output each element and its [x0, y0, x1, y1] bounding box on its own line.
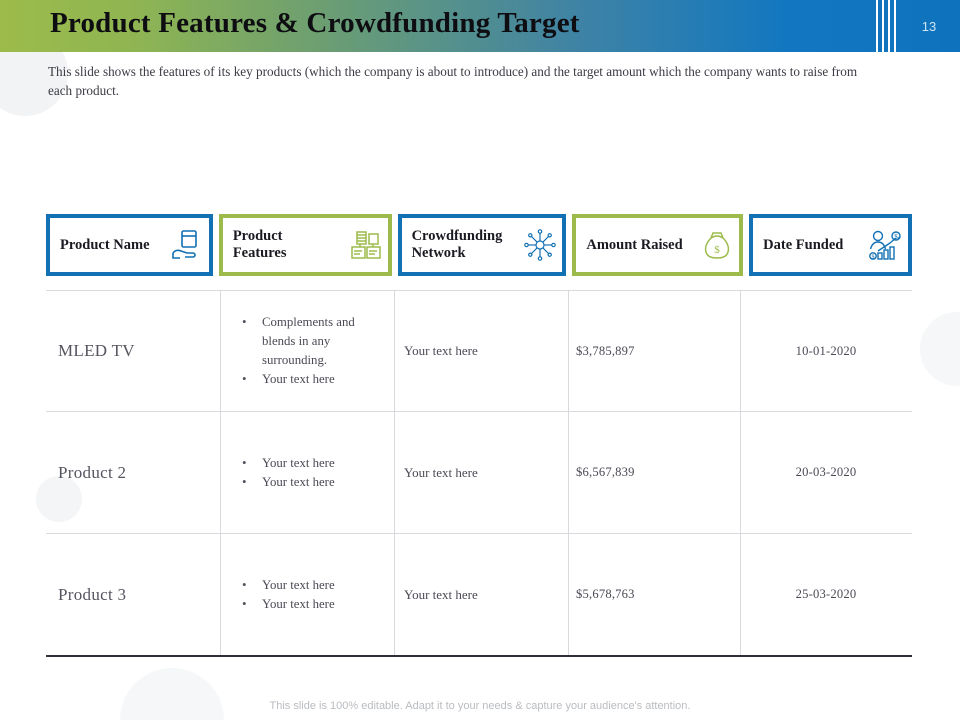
- table-bottom-border: [46, 655, 912, 657]
- money-bag-icon: $: [697, 225, 737, 265]
- column-header-crowdfunding-network[interactable]: Crowdfunding Network: [398, 214, 567, 276]
- feature-bullet: Your text here: [242, 454, 386, 473]
- table-header-row: Product Name Product Features: [46, 214, 912, 276]
- cell-crowdfunding-network: Your text here: [394, 534, 568, 655]
- column-header-date-funded[interactable]: Date Funded $ $: [749, 214, 912, 276]
- feature-bullet: Complements and blends in any surroundin…: [242, 313, 386, 370]
- banner-stripes: [876, 0, 898, 52]
- column-header-label: Crowdfunding Network: [398, 228, 503, 262]
- svg-text:$: $: [714, 244, 720, 256]
- product-table: Product Name Product Features: [46, 214, 912, 657]
- cell-product-features: Your text here Your text here: [220, 534, 394, 655]
- slide-subtitle: This slide shows the features of its key…: [48, 62, 878, 100]
- slide-canvas: Product Features & Crowdfunding Target 1…: [0, 0, 960, 720]
- date-value: 10-01-2020: [740, 344, 912, 359]
- feature-bullet: Your text here: [242, 473, 386, 492]
- feature-bullet: Your text here: [242, 595, 386, 614]
- cell-amount-raised: $3,785,897: [568, 291, 740, 411]
- title-banner: Product Features & Crowdfunding Target 1…: [0, 0, 960, 52]
- cell-amount-raised: $5,678,763: [568, 534, 740, 655]
- network-hub-icon: [520, 225, 560, 265]
- column-header-product-name[interactable]: Product Name: [46, 214, 213, 276]
- cell-product-name: Product 2: [46, 412, 220, 533]
- page-title: Product Features & Crowdfunding Target: [50, 7, 580, 40]
- column-header-product-features[interactable]: Product Features: [219, 214, 392, 276]
- svg-text:$: $: [872, 253, 875, 260]
- column-header-label: Product Features: [219, 228, 337, 262]
- date-value: 25-03-2020: [740, 587, 912, 602]
- cell-date-funded: 25-03-2020: [740, 534, 912, 655]
- investor-growth-icon: $ $: [866, 225, 906, 265]
- decorative-circle-bottom-center: [120, 668, 224, 720]
- cell-crowdfunding-network: Your text here: [394, 412, 568, 533]
- column-header-label: Date Funded: [749, 237, 843, 254]
- column-header-amount-raised[interactable]: Amount Raised $: [572, 214, 743, 276]
- footer-note: This slide is 100% editable. Adapt it to…: [0, 700, 960, 712]
- column-header-label: Product Name: [46, 237, 150, 254]
- table-row[interactable]: MLED TV Complements and blends in any su…: [46, 291, 912, 411]
- decorative-circle-right: [920, 312, 960, 386]
- cell-date-funded: 20-03-2020: [740, 412, 912, 533]
- page-number: 13: [898, 0, 960, 52]
- product-features-icon: [346, 225, 386, 265]
- hand-holding-product-icon: [167, 225, 207, 265]
- cell-product-name: MLED TV: [46, 291, 220, 411]
- cell-product-features: Complements and blends in any surroundin…: [220, 291, 394, 411]
- cell-product-features: Your text here Your text here: [220, 412, 394, 533]
- cell-crowdfunding-network: Your text here: [394, 291, 568, 411]
- feature-bullet: Your text here: [242, 576, 386, 595]
- date-value: 20-03-2020: [740, 465, 912, 480]
- feature-bullet: Your text here: [242, 370, 386, 389]
- table-row[interactable]: Product 3 Your text here Your text here …: [46, 534, 912, 655]
- table-row[interactable]: Product 2 Your text here Your text here …: [46, 412, 912, 533]
- column-header-label: Amount Raised: [572, 237, 682, 254]
- cell-product-name: Product 3: [46, 534, 220, 655]
- cell-amount-raised: $6,567,839: [568, 412, 740, 533]
- cell-date-funded: 10-01-2020: [740, 291, 912, 411]
